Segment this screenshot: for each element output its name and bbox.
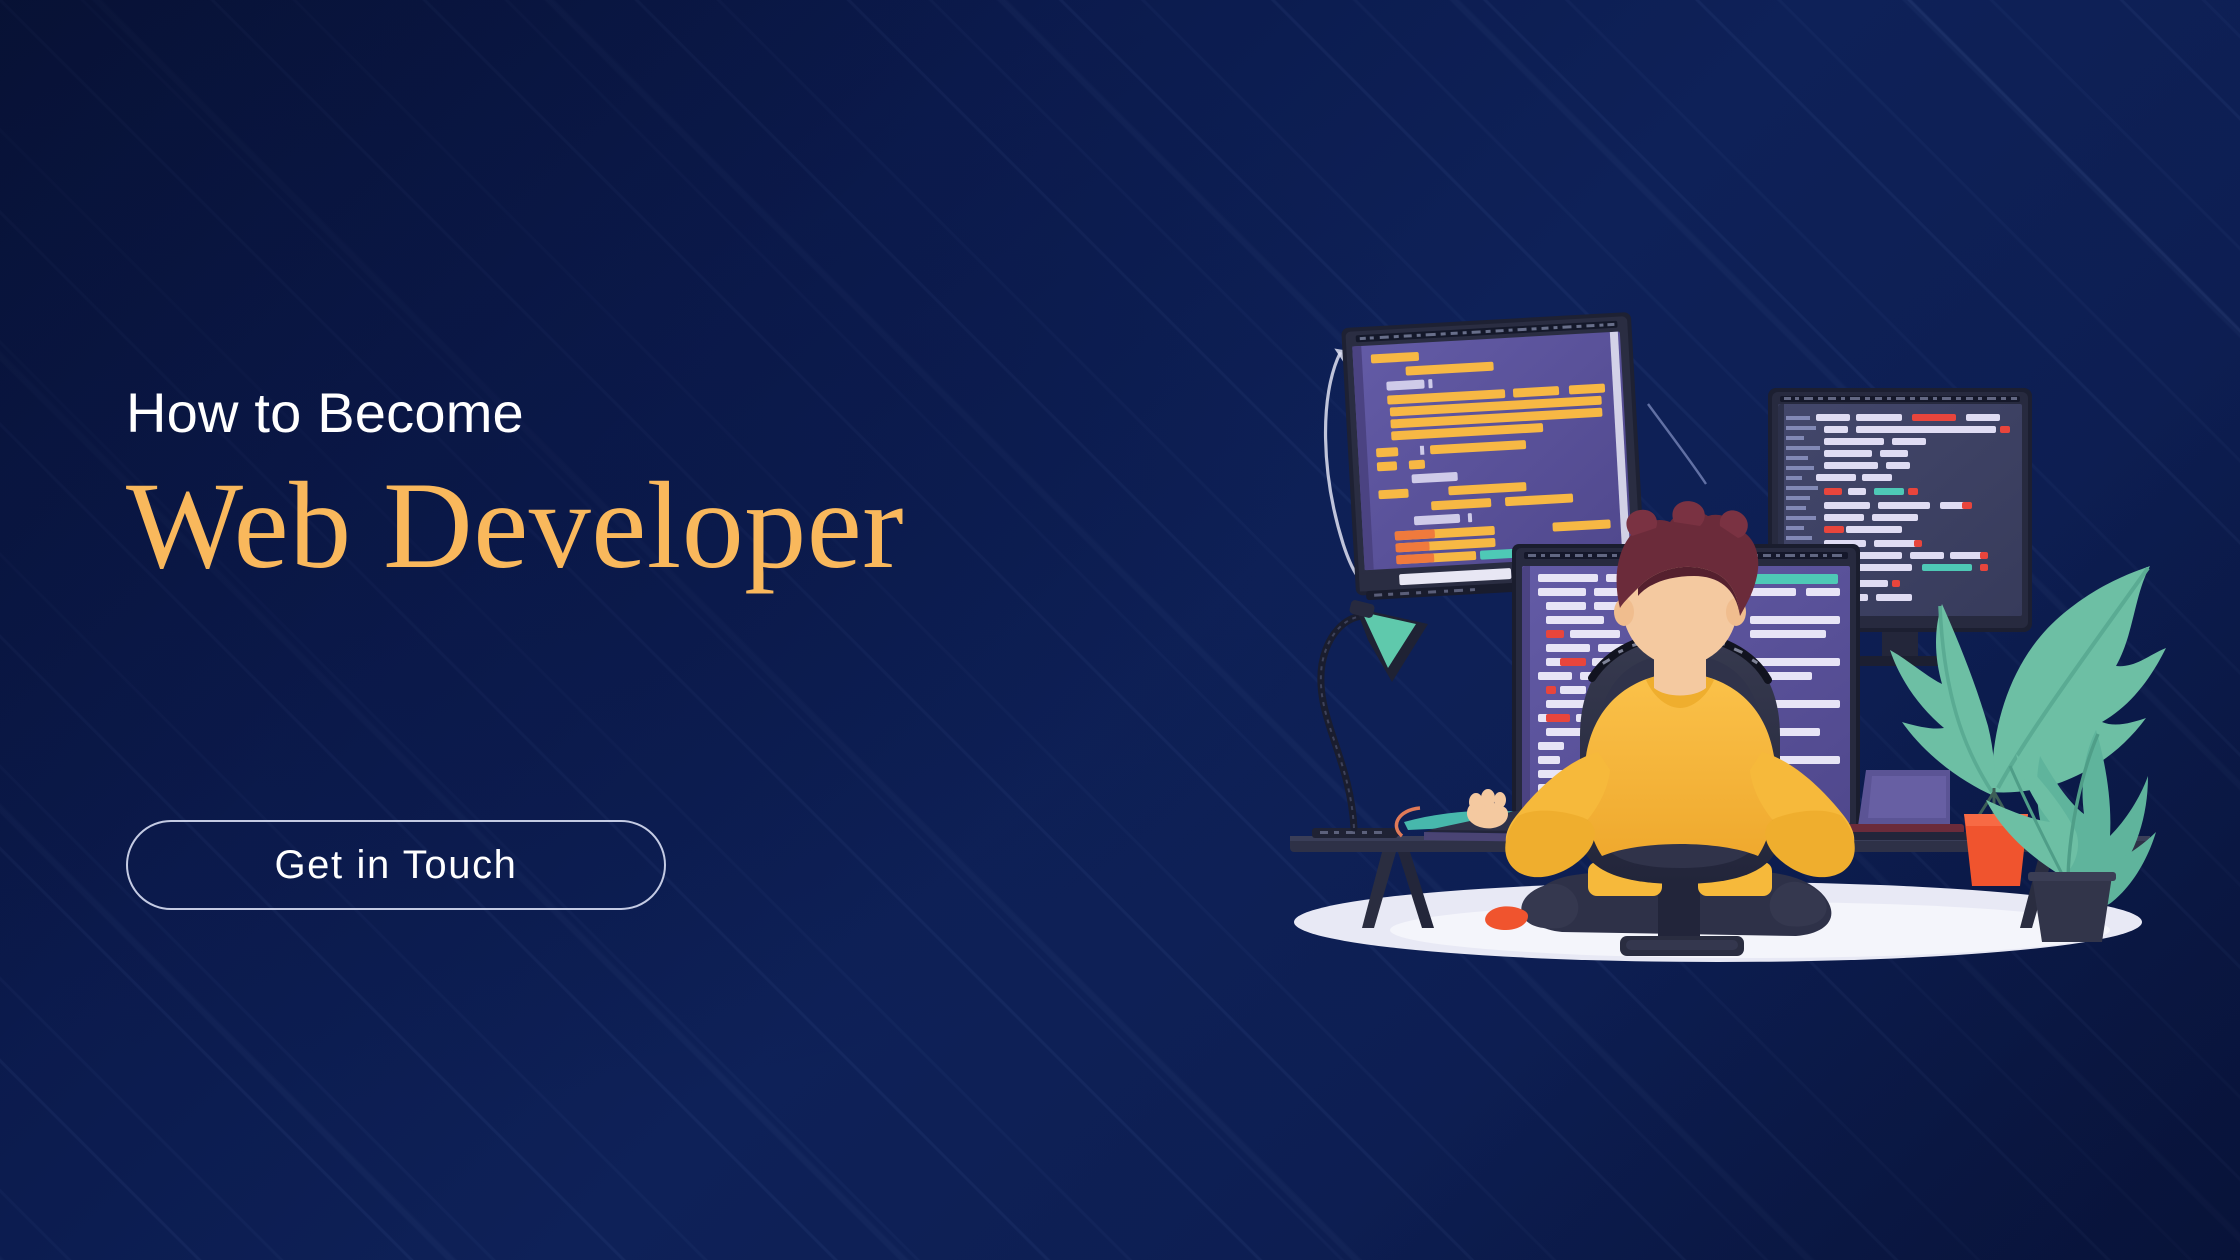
arm-right-lower	[1765, 811, 1855, 878]
monitor-wire	[1648, 404, 1706, 484]
hair-tuft-b	[1672, 501, 1704, 526]
lamp-arm	[1321, 616, 1362, 828]
desk-lamp	[1312, 599, 1428, 838]
hero-headline: Web Developer	[126, 459, 1176, 593]
workstation-svg	[1250, 236, 2210, 976]
floor-plant-pot	[2032, 876, 2112, 942]
hero-eyebrow: How to Become	[126, 384, 1176, 443]
developer-workstation-illustration	[1250, 236, 2210, 976]
laptop	[1842, 770, 1970, 840]
hero-copy: How to Become Web Developer	[126, 384, 1176, 593]
hero-banner: How to Become Web Developer Get in Touch	[0, 0, 2240, 1260]
arm-left-lower	[1505, 811, 1595, 878]
get-in-touch-button[interactable]: Get in Touch	[126, 820, 666, 910]
